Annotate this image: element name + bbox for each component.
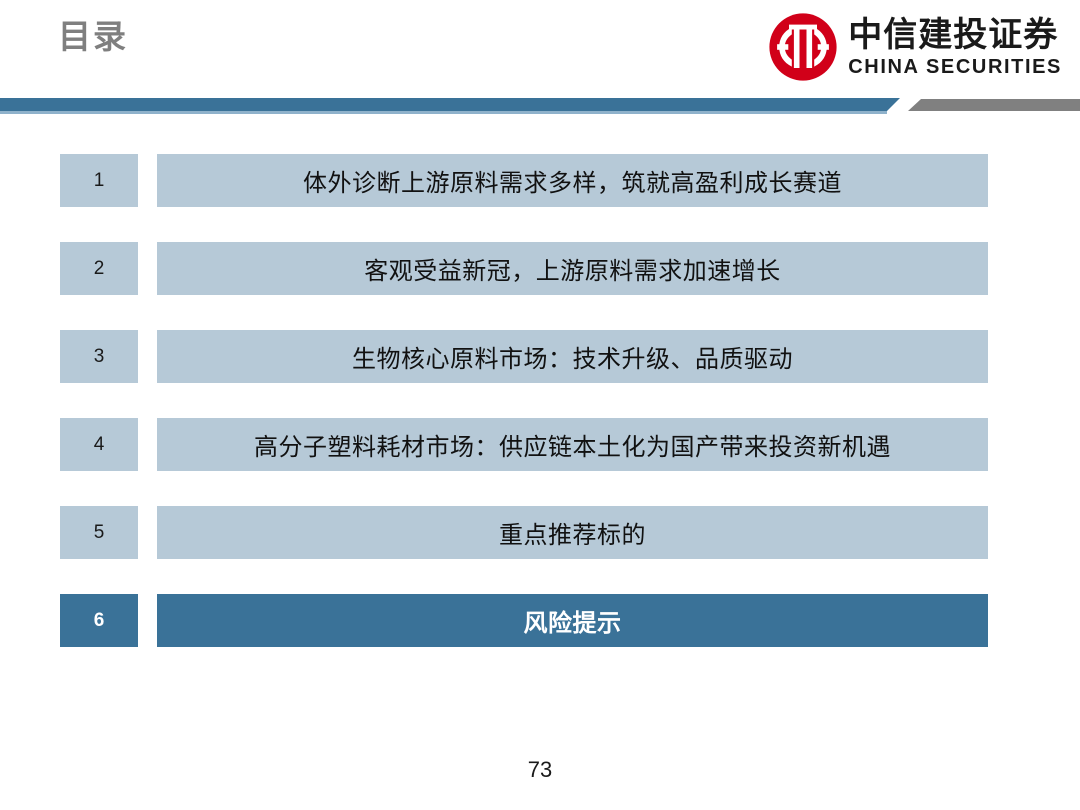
- header-rule-blue-underline: [0, 111, 887, 114]
- header-rule-gray: [908, 99, 1080, 111]
- toc-row-active[interactable]: 6 风险提示: [60, 594, 988, 647]
- toc-row[interactable]: 3 生物核心原料市场：技术升级、品质驱动: [60, 330, 988, 383]
- toc-item-label[interactable]: 风险提示: [157, 594, 988, 647]
- citic-circle-logo-icon: [768, 12, 838, 82]
- brand-logo-text: 中信建投证券 CHINA SECURITIES: [848, 18, 1062, 77]
- toc-row[interactable]: 1 体外诊断上游原料需求多样，筑就高盈利成长赛道: [60, 154, 988, 207]
- toc-item-label[interactable]: 高分子塑料耗材市场：供应链本土化为国产带来投资新机遇: [157, 418, 988, 471]
- toc-number-badge: 3: [60, 330, 138, 383]
- toc-row[interactable]: 2 客观受益新冠，上游原料需求加速增长: [60, 242, 988, 295]
- toc-number-badge: 2: [60, 242, 138, 295]
- brand-name-en: CHINA SECURITIES: [848, 57, 1062, 77]
- toc-number-badge: 1: [60, 154, 138, 207]
- brand-name-cn: 中信建投证券: [848, 18, 1062, 52]
- toc-number-badge: 5: [60, 506, 138, 559]
- toc-item-label[interactable]: 体外诊断上游原料需求多样，筑就高盈利成长赛道: [157, 154, 988, 207]
- toc-item-label[interactable]: 生物核心原料市场：技术升级、品质驱动: [157, 330, 988, 383]
- page-title: 目录: [58, 20, 128, 53]
- page-number: 73: [0, 757, 1080, 783]
- toc-number-badge: 6: [60, 594, 138, 647]
- toc-item-label[interactable]: 重点推荐标的: [157, 506, 988, 559]
- header-rule-blue: [0, 98, 900, 111]
- brand-logo: 中信建投证券 CHINA SECURITIES: [768, 12, 1062, 82]
- toc-row[interactable]: 4 高分子塑料耗材市场：供应链本土化为国产带来投资新机遇: [60, 418, 988, 471]
- toc-item-label[interactable]: 客观受益新冠，上游原料需求加速增长: [157, 242, 988, 295]
- toc-row[interactable]: 5 重点推荐标的: [60, 506, 988, 559]
- toc-number-badge: 4: [60, 418, 138, 471]
- table-of-contents: 1 体外诊断上游原料需求多样，筑就高盈利成长赛道 2 客观受益新冠，上游原料需求…: [60, 154, 988, 647]
